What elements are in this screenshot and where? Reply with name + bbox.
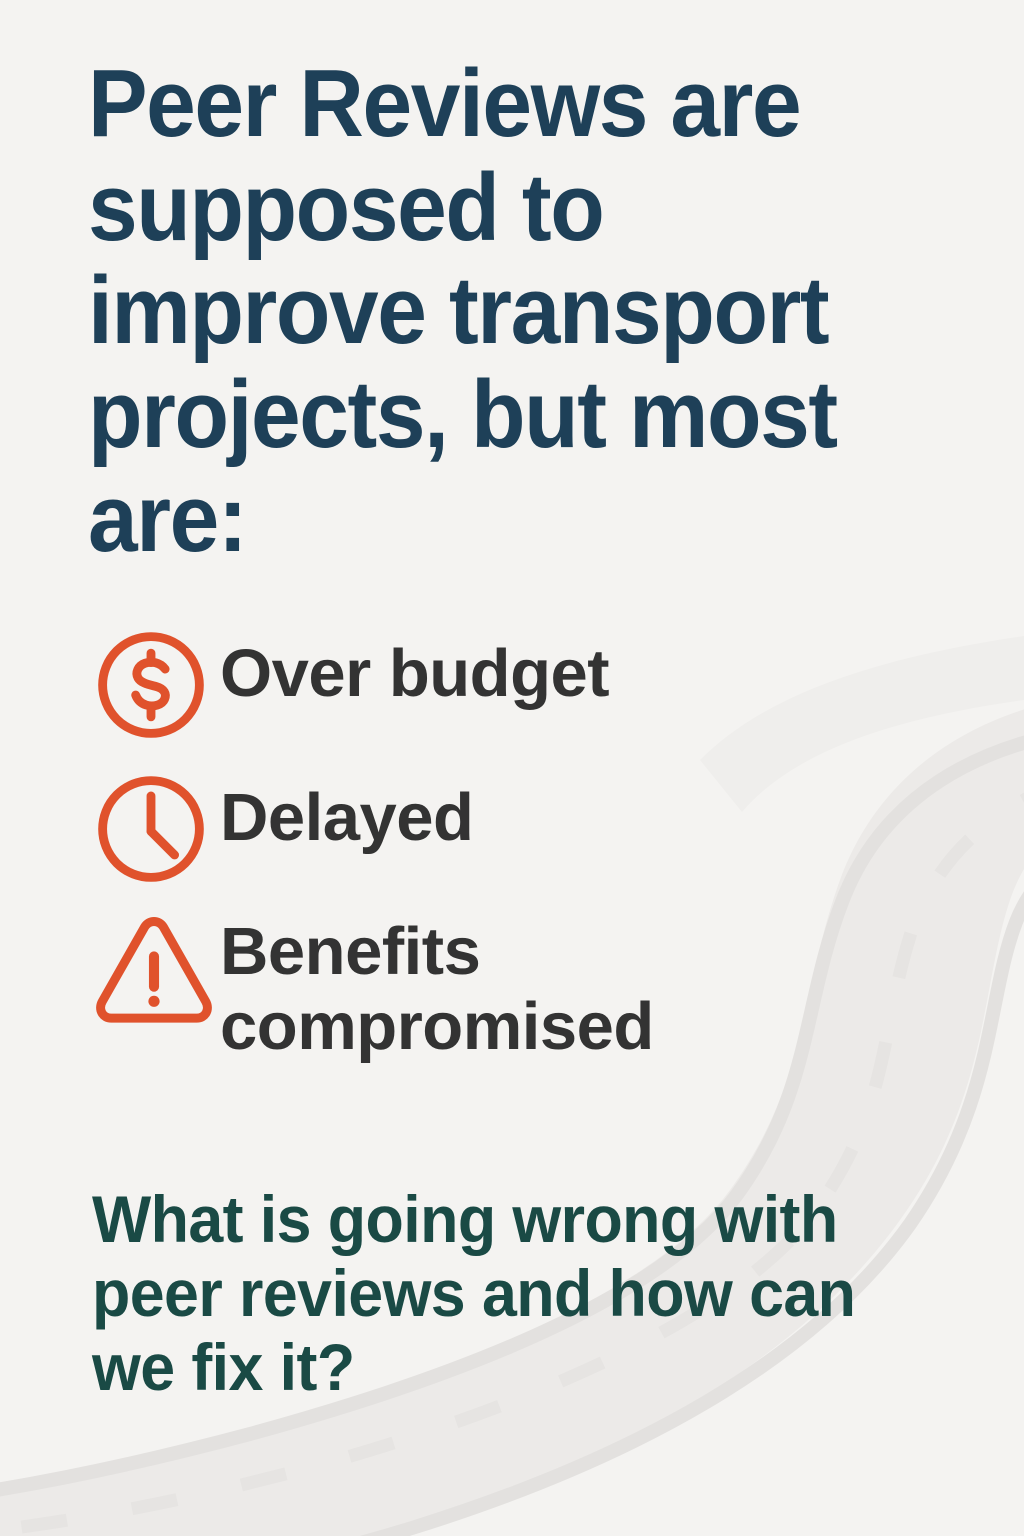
warning-triangle-icon (92, 912, 220, 1066)
clock-icon (92, 768, 220, 890)
list-item: Over budget (92, 624, 972, 746)
dollar-circle-icon (92, 624, 220, 746)
list-item-label: Benefits compromised (220, 912, 972, 1064)
list-item-label: Delayed (220, 768, 972, 855)
poster-canvas: Peer Reviews are supposed to improve tra… (0, 0, 1024, 1536)
list-item-label: Over budget (220, 624, 972, 711)
page-headline: Peer Reviews are supposed to improve tra… (88, 52, 888, 570)
list-item: Delayed (92, 768, 972, 890)
list-item: Benefits compromised (92, 912, 972, 1066)
closing-question: What is going wrong with peer reviews an… (92, 1183, 938, 1405)
problem-bullet-list: Over budget Delayed Benefits comprom (92, 624, 972, 1088)
